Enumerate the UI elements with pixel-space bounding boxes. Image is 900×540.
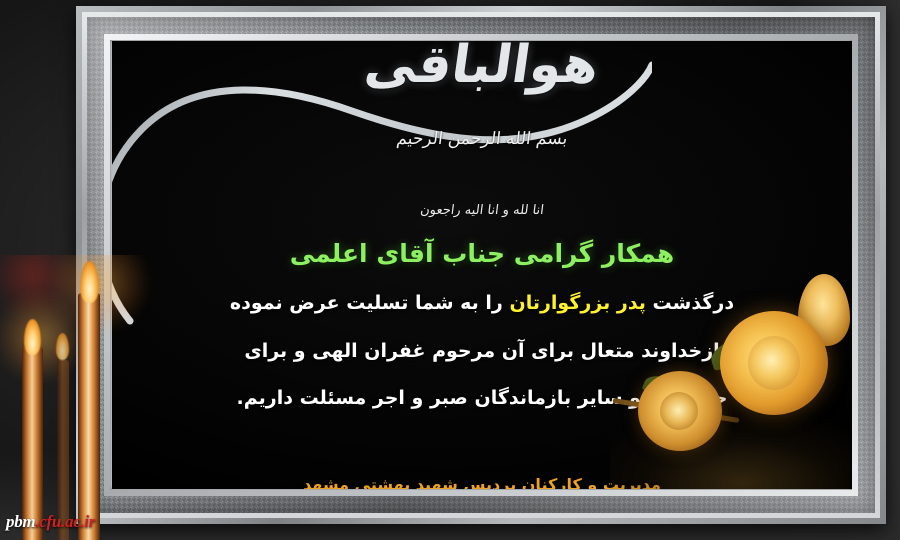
rose-bloom-small [638, 371, 722, 451]
bismillah-text: بسم الله الرحمن الرحیم [112, 129, 852, 149]
site-watermark: pbm.cfu.ac.ir [6, 512, 95, 532]
addressee-heading: همکار گرامی جناب آقای اعلمی [112, 239, 852, 268]
watermark-domain: .cfu.ac.ir [35, 512, 95, 531]
card-canvas: هوالباقی بسم الله الرحمن الرحیم انا لله … [112, 41, 852, 489]
candles-decoration [0, 255, 152, 540]
condolence-card-image: هوالباقی بسم الله الرحمن الرحیم انا لله … [0, 0, 900, 540]
candle-flame-icon [24, 319, 41, 355]
watermark-name: pbm [6, 512, 35, 531]
calligraphy-hoo-albaqi: هوالباقی [112, 41, 852, 95]
quran-verse-text: انا لله و انا الیه راجعون [112, 203, 852, 218]
condolence-line-1-suffix: را به شما تسلیت عرض نموده [230, 292, 510, 314]
candle-flame-icon [56, 333, 69, 360]
candle-front-right [78, 293, 100, 540]
yellow-roses-decoration [610, 274, 850, 489]
rose-bloom-large [720, 311, 828, 415]
